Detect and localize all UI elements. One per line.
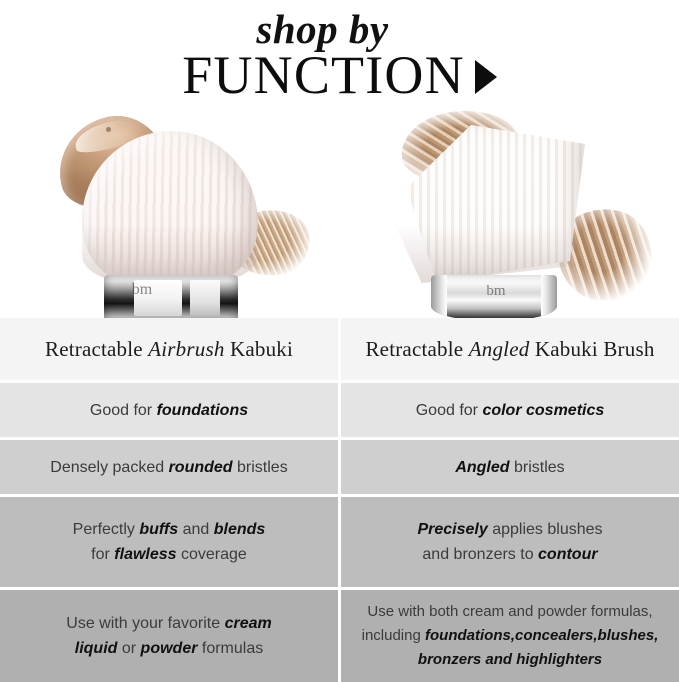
formulas-right-text: Use with both cream and powder formulas,… (362, 600, 659, 672)
application-left: Perfectly buffs and blendsfor flawless c… (0, 497, 338, 587)
ferrule-edge-right (541, 275, 557, 320)
product-image-airbrush-kabuki[interactable]: bm (0, 105, 340, 320)
emphasis-text: blends (214, 521, 266, 538)
application-right-text: Precisely applies blushesand bronzers to… (417, 517, 602, 567)
emphasis-text: powder (141, 640, 198, 657)
right-arrow-icon[interactable] (475, 60, 497, 94)
brand-logo-mark: bm (479, 283, 513, 300)
emphasis-text: color cosmetics (482, 402, 604, 419)
good-for-right-text: Good for color cosmetics (416, 398, 605, 423)
emphasis-text: buffs (139, 521, 178, 538)
page-header: shop by FUNCTION (0, 0, 679, 118)
product-name-right-text: Retractable Angled Kabuki Brush (365, 337, 654, 362)
ferrule-highlight-panel-secondary (190, 280, 220, 316)
product-name-emphasis: Airbrush (148, 337, 224, 361)
page-title: FUNCTION (182, 46, 465, 104)
comparison-table: Retractable Airbrush Kabuki Retractable … (0, 318, 679, 679)
product-name-right: Retractable Angled Kabuki Brush (341, 318, 679, 380)
table-row-formulas: Use with your favorite creamliquid or po… (0, 590, 679, 682)
product-image-band: bm bm (0, 105, 679, 320)
formulas-left-text: Use with your favorite creamliquid or po… (66, 611, 271, 661)
table-row-good-for: Good for foundations Good for color cosm… (0, 383, 679, 437)
header-line-function: FUNCTION (0, 46, 679, 104)
foundation-smear-speck (106, 127, 111, 132)
bristles-right-text: Angled bristles (455, 455, 564, 480)
product-comparison-page: shop by FUNCTION bm (0, 0, 679, 679)
emphasis-text: foundations (157, 402, 249, 419)
application-left-text: Perfectly buffs and blendsfor flawless c… (73, 517, 266, 567)
table-row-product-name: Retractable Airbrush Kabuki Retractable … (0, 318, 679, 380)
table-row-bristles: Densely packed rounded bristles Angled b… (0, 440, 679, 494)
bristles-right: Angled bristles (341, 440, 679, 494)
emphasis-text: flawless (114, 546, 176, 563)
emphasis-text: liquid (75, 640, 118, 657)
bristles-left-text: Densely packed rounded bristles (50, 455, 287, 480)
emphasis-text: bronzers and highlighters (418, 651, 602, 668)
formulas-left: Use with your favorite creamliquid or po… (0, 590, 338, 682)
product-name-emphasis: Angled (469, 337, 530, 361)
product-name-left: Retractable Airbrush Kabuki (0, 318, 338, 380)
bristles-left: Densely packed rounded bristles (0, 440, 338, 494)
emphasis-text: rounded (169, 459, 233, 476)
good-for-left-text: Good for foundations (90, 398, 248, 423)
formulas-right: Use with both cream and powder formulas,… (341, 590, 679, 682)
good-for-left: Good for foundations (0, 383, 338, 437)
ferrule-edge-left (431, 275, 447, 320)
emphasis-text: contour (538, 546, 598, 563)
emphasis-text: Angled (455, 459, 509, 476)
emphasis-text: Precisely (417, 521, 487, 538)
good-for-right: Good for color cosmetics (341, 383, 679, 437)
brand-logo-mark: bm (118, 281, 166, 299)
product-name-left-text: Retractable Airbrush Kabuki (45, 337, 293, 362)
application-right: Precisely applies blushesand bronzers to… (341, 497, 679, 587)
emphasis-text: foundations,concealers,blushes, (425, 627, 658, 644)
product-image-angled-kabuki[interactable]: bm (339, 105, 679, 320)
round-bristles-shading (82, 223, 258, 283)
table-row-application: Perfectly buffs and blendsfor flawless c… (0, 497, 679, 587)
emphasis-text: cream (225, 615, 272, 632)
